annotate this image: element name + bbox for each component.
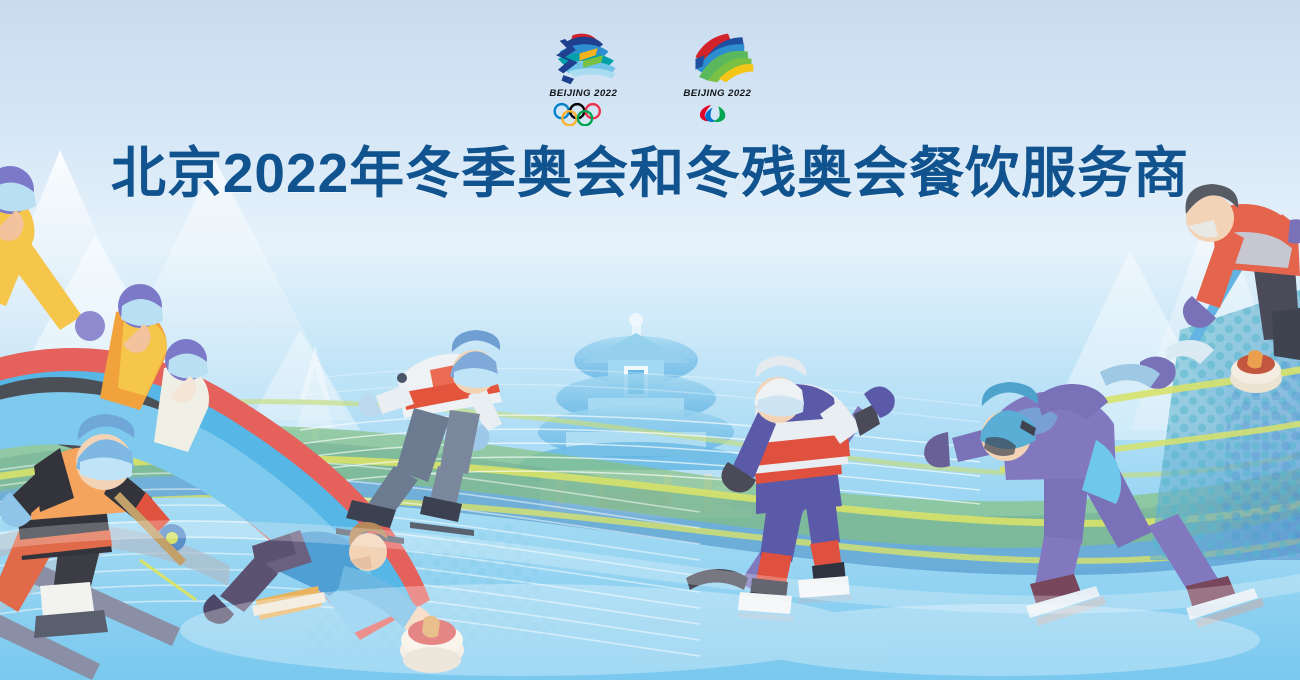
olympic-wordmark: BEIJING 2022 — [549, 88, 617, 99]
olympic-emblem: BEIJING 2022 — [537, 30, 629, 126]
title-container: 北京2022年冬季奥会和冬残奥会餐饮服务商 — [0, 143, 1300, 205]
emblem-group: BEIJING 2022 B — [0, 30, 1300, 126]
paralympic-agitos — [683, 102, 751, 126]
paralympic-wordmark: BEIJING 2022 — [683, 88, 751, 99]
paralympic-emblem: BEIJING 2022 — [671, 30, 763, 126]
olympic-rings — [549, 102, 617, 126]
beijing-2022-winter-olympics-emblem — [538, 30, 628, 86]
beijing-2022-winter-paralympics-emblem — [672, 30, 762, 86]
olympics-catering-banner: BEIJING 2022 B — [0, 0, 1300, 680]
page-title: 北京2022年冬季奥会和冬残奥会餐饮服务商 — [111, 143, 1189, 205]
